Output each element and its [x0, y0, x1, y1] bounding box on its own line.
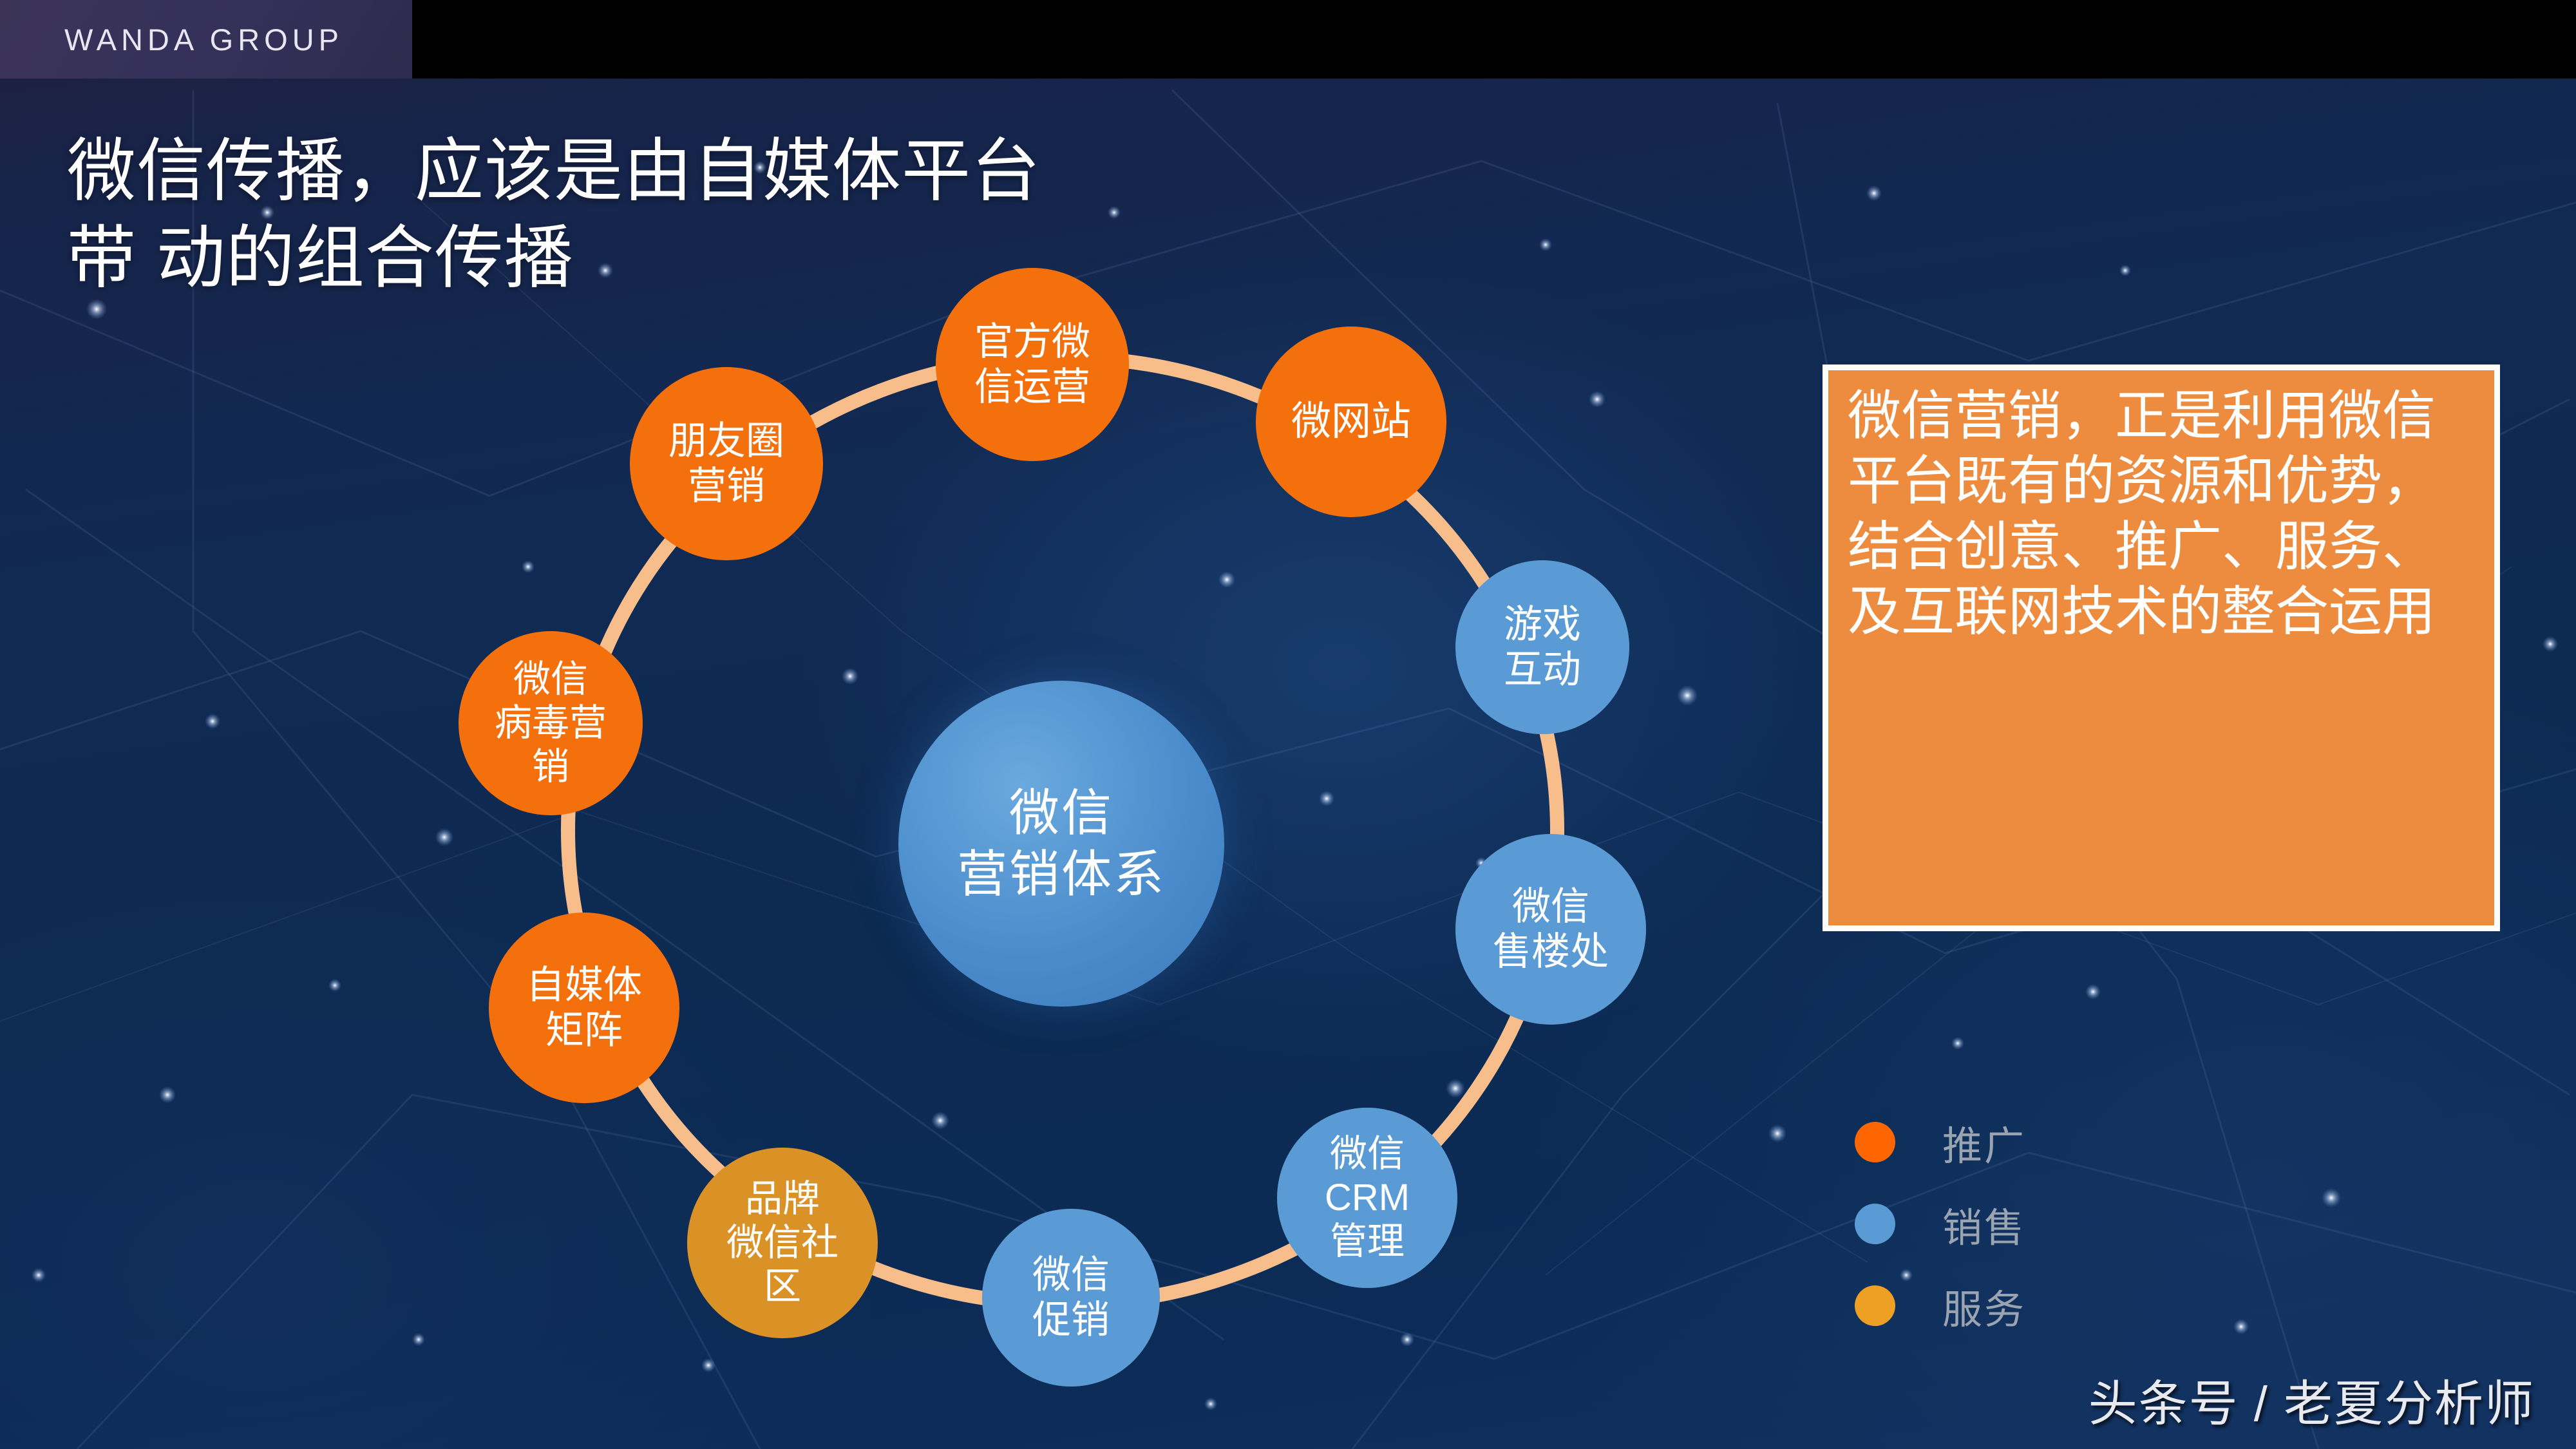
diagram-node-label: 品牌 微信社 区	[726, 1177, 838, 1309]
legend-swatch-icon	[1855, 1285, 1895, 1326]
callout-box: 微信营销，正是利用微信平台既有的资源和优势，结合创意、推广、服务、及互联网技术的…	[1823, 365, 2500, 931]
diagram-node-n4[interactable]: 微信 售楼处	[1455, 834, 1646, 1025]
legend-row-1: 销售	[1855, 1183, 2306, 1265]
diagram-node-n1[interactable]: 官方微 信运营	[936, 268, 1129, 461]
diagram-node-n3[interactable]: 游戏 互动	[1455, 560, 1629, 734]
legend-label: 推广	[1942, 1113, 2026, 1171]
diagram-node-label: 微信 售楼处	[1493, 884, 1609, 974]
diagram-node-n10[interactable]: 朋友圈 营销	[630, 367, 823, 560]
diagram-node-label: 自媒体 矩阵	[526, 963, 642, 1053]
legend-row-2: 服务	[1855, 1265, 2306, 1347]
diagram-node-label: 游戏 互动	[1504, 602, 1581, 692]
diagram-node-n5[interactable]: 微信 CRM 管理	[1277, 1108, 1457, 1288]
legend-label: 服务	[1942, 1277, 2026, 1335]
diagram-node-n2[interactable]: 微网站	[1256, 327, 1446, 517]
callout-text: 微信营销，正是利用微信平台既有的资源和优势，结合创意、推广、服务、及互联网技术的…	[1848, 386, 2436, 641]
diagram-node-label: 官方微 信运营	[974, 319, 1090, 410]
legend-row-0: 推广	[1855, 1101, 2306, 1183]
diagram-node-label: 微信 病毒营 销	[495, 658, 607, 789]
diagram-node-n9[interactable]: 微信 病毒营 销	[459, 631, 643, 815]
legend-swatch-icon	[1855, 1122, 1895, 1162]
legend-label: 销售	[1942, 1195, 2026, 1253]
ring-connector-arcs	[0, 0, 1868, 1449]
wechat-marketing-diagram: 微信 营销体系 官方微 信运营微网站游戏 互动微信 售楼处微信 CRM 管理微信…	[0, 0, 1868, 1449]
diagram-node-label: 朋友圈 营销	[668, 419, 784, 509]
diagram-node-n7[interactable]: 品牌 微信社 区	[687, 1148, 878, 1338]
diagram-node-n8[interactable]: 自媒体 矩阵	[489, 913, 679, 1103]
hub-label: 微信 营销体系	[957, 782, 1166, 905]
legend-swatch-icon	[1855, 1204, 1895, 1244]
diagram-node-n6[interactable]: 微信 促销	[982, 1209, 1160, 1387]
hub-node[interactable]: 微信 营销体系	[898, 681, 1224, 1007]
diagram-node-label: 微网站	[1291, 399, 1411, 446]
diagram-node-label: 微信 CRM 管理	[1325, 1132, 1410, 1264]
legend: 推广销售服务	[1855, 1101, 2306, 1347]
attribution-text: 头条号 / 老夏分析师	[2088, 1364, 2535, 1435]
diagram-node-label: 微信 促销	[1032, 1253, 1110, 1343]
